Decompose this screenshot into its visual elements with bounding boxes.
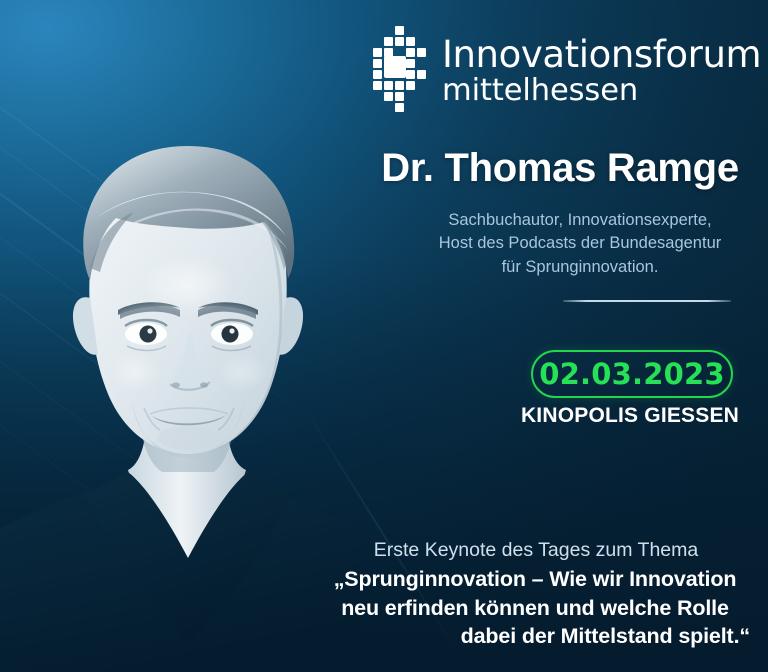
speaker-role-line-3: für Sprunginnovation. bbox=[400, 256, 760, 279]
keynote-intro: Erste Keynote des Tages zum Thema bbox=[320, 539, 752, 562]
event-date-badge: 02.03.2023 bbox=[531, 350, 733, 398]
speaker-role: Sachbuchautor, Innovationsexperte, Host … bbox=[400, 209, 760, 279]
speaker-portrait bbox=[0, 72, 360, 672]
event-date: 02.03.2023 bbox=[539, 357, 724, 391]
keynote-quote: „Sprunginnovation – Wie wir Innovation n… bbox=[318, 565, 752, 651]
brand-name-secondary: mittelhessen bbox=[442, 76, 761, 107]
event-poster: Innovationsforum mittelhessen Dr. Thomas… bbox=[0, 0, 768, 672]
keynote-quote-line-3: dabei der Mittelstand spielt.“ bbox=[318, 622, 752, 651]
brand-name-primary: Innovationsforum bbox=[442, 36, 761, 73]
event-venue: KINOPOLIS GIESSEN bbox=[500, 404, 760, 428]
keynote-quote-line-2: neu erfinden können und welche Rolle bbox=[318, 594, 752, 623]
keynote-quote-line-1: „Sprunginnovation – Wie wir Innovation bbox=[318, 565, 752, 594]
speaker-role-line-2: Host des Podcasts der Bundesagentur bbox=[400, 232, 760, 255]
section-divider bbox=[563, 300, 731, 302]
speaker-role-line-1: Sachbuchautor, Innovationsexperte, bbox=[400, 209, 760, 232]
speaker-name: Dr. Thomas Ramge bbox=[360, 146, 760, 191]
pixel-diamond-mark-icon bbox=[372, 26, 430, 114]
brand-wordmark: Innovationsforum mittelhessen bbox=[442, 34, 761, 107]
brand-logo: Innovationsforum mittelhessen bbox=[372, 26, 761, 114]
